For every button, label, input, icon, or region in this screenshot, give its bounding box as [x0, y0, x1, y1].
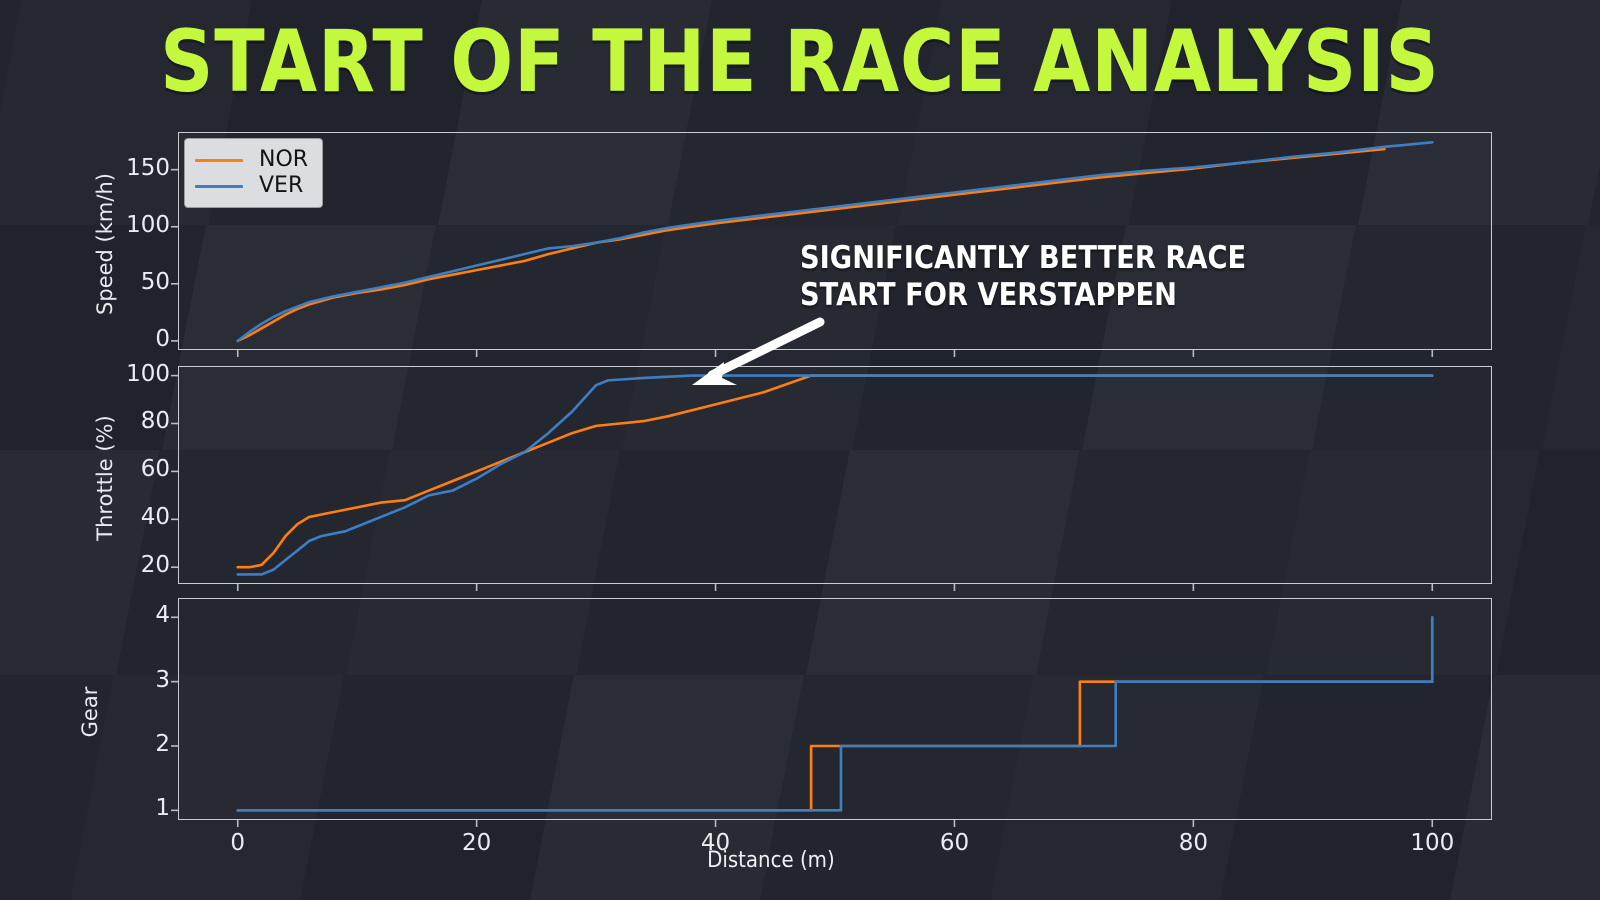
- legend-item-nor[interactable]: NOR: [195, 147, 308, 173]
- series-line-ver-panel2: [238, 617, 1433, 810]
- legend[interactable]: NOR VER: [184, 138, 323, 208]
- y-tick-label-p1-60: 60: [58, 456, 170, 482]
- series-line-nor-panel1: [238, 376, 1433, 568]
- y-tick-label-p1-20: 20: [58, 552, 170, 578]
- line-swatch-icon-nor: [195, 159, 243, 162]
- arrow-down-left-icon: [712, 322, 820, 375]
- y-tick-label-p1-40: 40: [58, 504, 170, 530]
- legend-label-ver: VER: [259, 175, 303, 197]
- x-tick-label-0: 0: [178, 830, 298, 856]
- telemetry-plot: [0, 0, 1600, 900]
- y-tick-label-p1-100: 100: [58, 361, 170, 387]
- line-swatch-icon-ver: [195, 185, 243, 188]
- y-tick-label-p2-2: 2: [58, 731, 170, 757]
- annotation-line-1: SIGNIFICANTLY BETTER RACE: [800, 240, 1246, 277]
- legend-item-ver[interactable]: VER: [195, 173, 308, 199]
- series-line-ver-panel1: [238, 376, 1433, 575]
- y-tick-label-p0-50: 50: [58, 269, 170, 295]
- y-tick-label-p0-100: 100: [58, 212, 170, 238]
- x-tick-label-20: 20: [417, 830, 537, 856]
- y-tick-label-p2-3: 3: [58, 667, 170, 693]
- y-tick-label-p0-0: 0: [58, 326, 170, 352]
- y-tick-label-p0-150: 150: [58, 155, 170, 181]
- y-tick-label-p1-80: 80: [58, 408, 170, 434]
- x-tick-label-40: 40: [656, 830, 776, 856]
- annotation-text: SIGNIFICANTLY BETTER RACE START FOR VERS…: [800, 240, 1246, 314]
- y-tick-label-p2-4: 4: [58, 602, 170, 628]
- x-tick-label-100: 100: [1372, 830, 1492, 856]
- legend-label-nor: NOR: [259, 149, 308, 171]
- y-tick-label-p2-1: 1: [58, 795, 170, 821]
- x-tick-label-60: 60: [894, 830, 1014, 856]
- series-line-nor-panel2: [238, 682, 1433, 811]
- x-tick-label-80: 80: [1133, 830, 1253, 856]
- annotation-line-2: START FOR VERSTAPPEN: [800, 277, 1246, 314]
